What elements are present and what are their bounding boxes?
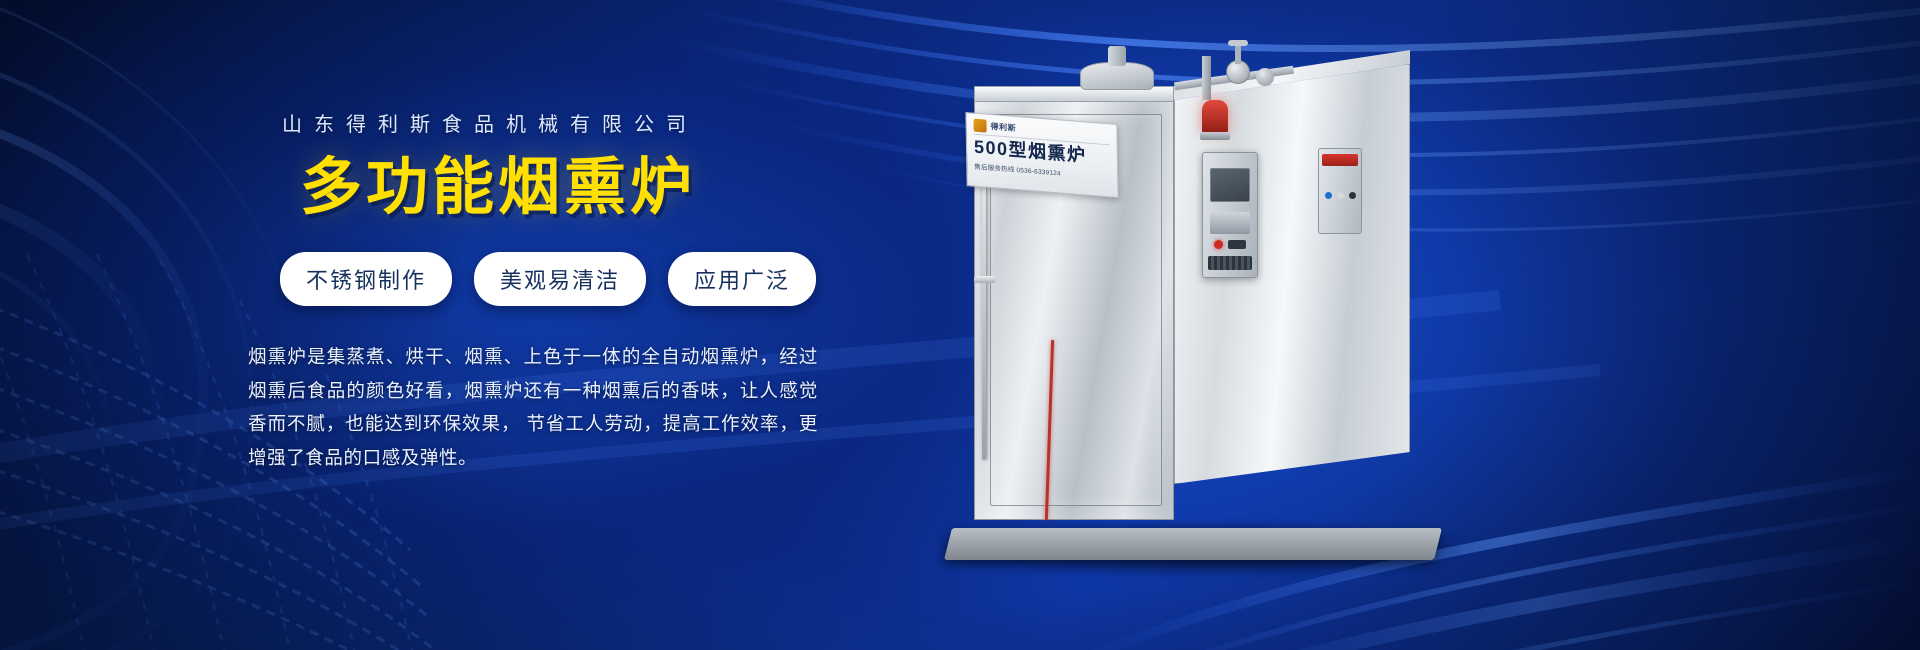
feature-badge-list: 不锈钢制作 美观易清洁 应用广泛 [248,252,848,306]
machine-door-handle-rod [982,160,986,460]
feature-badge-2[interactable]: 美观易清洁 [474,252,646,306]
machine-panel-indicator-red [1214,240,1223,249]
machine-valve-stem [1235,44,1241,64]
machine-nameplate: 得利斯 500型烟熏炉 售后服务热线 0536-6339124 [965,112,1118,198]
machine-valve-small [1256,68,1274,86]
machine-chimney [1080,62,1154,90]
product-description: 烟熏炉是集蒸煮、烘干、烟熏、上色于一体的全自动烟熏炉，经过烟熏后食品的颜色好看，… [248,340,818,475]
machine-beacon-base [1200,132,1230,140]
machine-panel-switch[interactable] [1228,240,1246,249]
machine-valve-cap [1228,40,1248,46]
machine-panel-buttons[interactable] [1210,212,1250,234]
machine-aux-indicator-blue [1325,192,1332,199]
nameplate-brand: 得利斯 [990,121,1016,134]
machine-aux-box-red-strip [1322,154,1358,166]
brand-mark-icon [973,119,986,133]
machine-aux-indicator-black [1349,192,1356,199]
company-name: 山东得利斯食品机械有限公司 [248,108,848,137]
machine-pipe-vertical [1202,56,1211,100]
machine-base-plate [944,528,1442,560]
hero-content: 山东得利斯食品机械有限公司 多功能烟熏炉 不锈钢制作 美观易清洁 应用广泛 烟熏… [248,108,848,475]
machine-door-handle-grip [974,276,996,283]
product-photo-smoke-oven: 得利斯 500型烟熏炉 售后服务热线 0536-6339124 [930,40,1490,570]
machine-vent-pipe [1108,46,1126,66]
hero-banner: 山东得利斯食品机械有限公司 多功能烟熏炉 不锈钢制作 美观易清洁 应用广泛 烟熏… [0,0,1920,650]
page-title: 多功能烟熏炉 [248,155,848,222]
machine-panel-screen [1210,168,1250,202]
feature-badge-1[interactable]: 不锈钢制作 [280,252,452,306]
feature-badge-3[interactable]: 应用广泛 [668,252,816,306]
machine-alarm-beacon [1202,100,1228,134]
machine-aux-indicator-white [1337,192,1344,199]
machine-panel-vent-strip [1208,256,1252,270]
